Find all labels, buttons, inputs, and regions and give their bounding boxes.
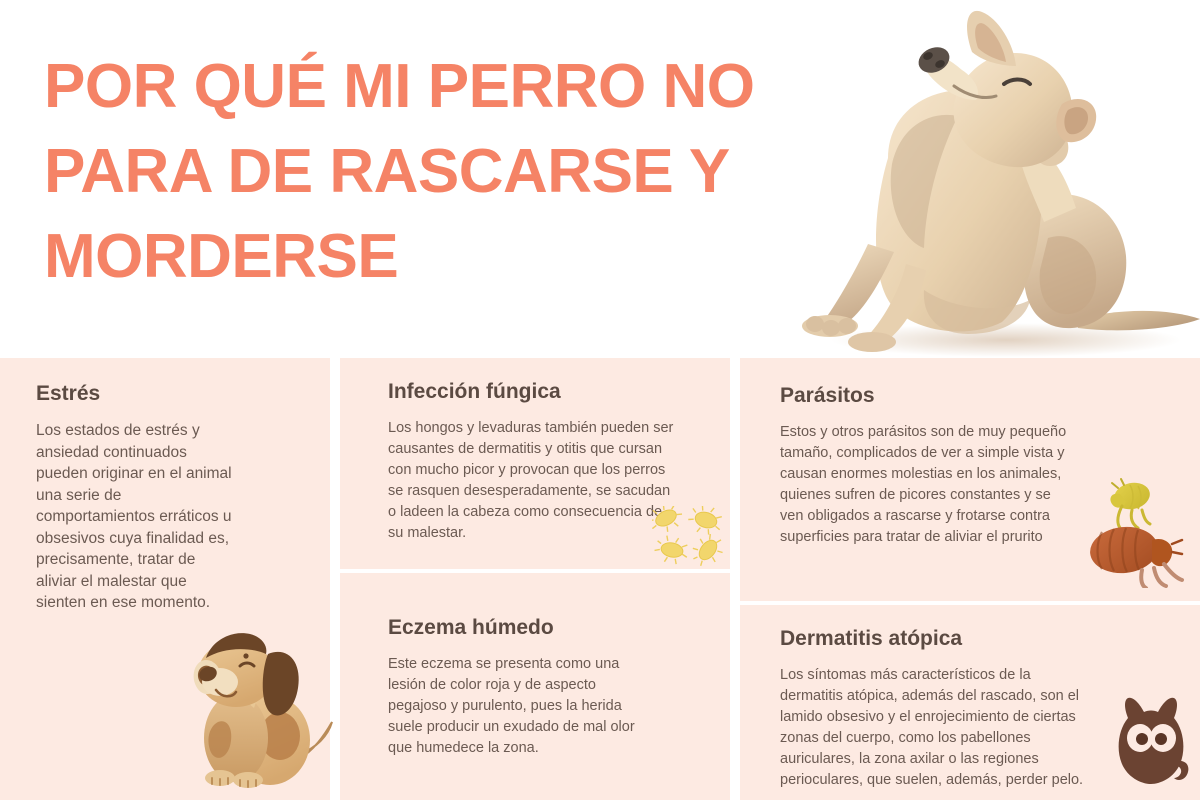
card-parasitos-heading: Parásitos — [780, 384, 875, 408]
cards-grid: Estrés Los estados de estrés y ansiedad … — [0, 358, 1200, 800]
page-title: POR QUÉ MI PERRO NO PARA DE RASCARSE Y M… — [44, 44, 904, 299]
card-infeccion-fungica-body: Los hongos y levaduras también pueden se… — [388, 418, 678, 544]
card-parasitos-body: Estos y otros parásitos son de muy peque… — [780, 422, 1072, 548]
card-infeccion-fungica-heading: Infección fúngica — [388, 380, 561, 404]
card-estres-heading: Estrés — [36, 382, 100, 406]
card-eczema-humedo-heading: Eczema húmedo — [388, 616, 554, 640]
card-eczema-humedo[interactable]: Eczema húmedo Este eczema se presenta co… — [340, 573, 730, 800]
infographic-page: POR QUÉ MI PERRO NO PARA DE RASCARSE Y M… — [0, 0, 1200, 800]
cat-silhouette-icon — [1104, 692, 1196, 788]
card-dermatitis-atopica-body: Los síntomas más característicos de la d… — [780, 665, 1090, 791]
card-eczema-humedo-body: Este eczema se presenta como una lesión … — [388, 654, 648, 759]
cartoon-dog-icon — [188, 618, 340, 800]
card-dermatitis-atopica-heading: Dermatitis atópica — [780, 627, 962, 651]
dog-scratching-photo — [776, 8, 1200, 358]
card-estres-body: Los estados de estrés y ansiedad continu… — [36, 420, 232, 614]
fungal-spores-icon — [652, 506, 732, 568]
fleas-icon — [1082, 470, 1186, 588]
header-banner: POR QUÉ MI PERRO NO PARA DE RASCARSE Y M… — [0, 0, 1200, 358]
